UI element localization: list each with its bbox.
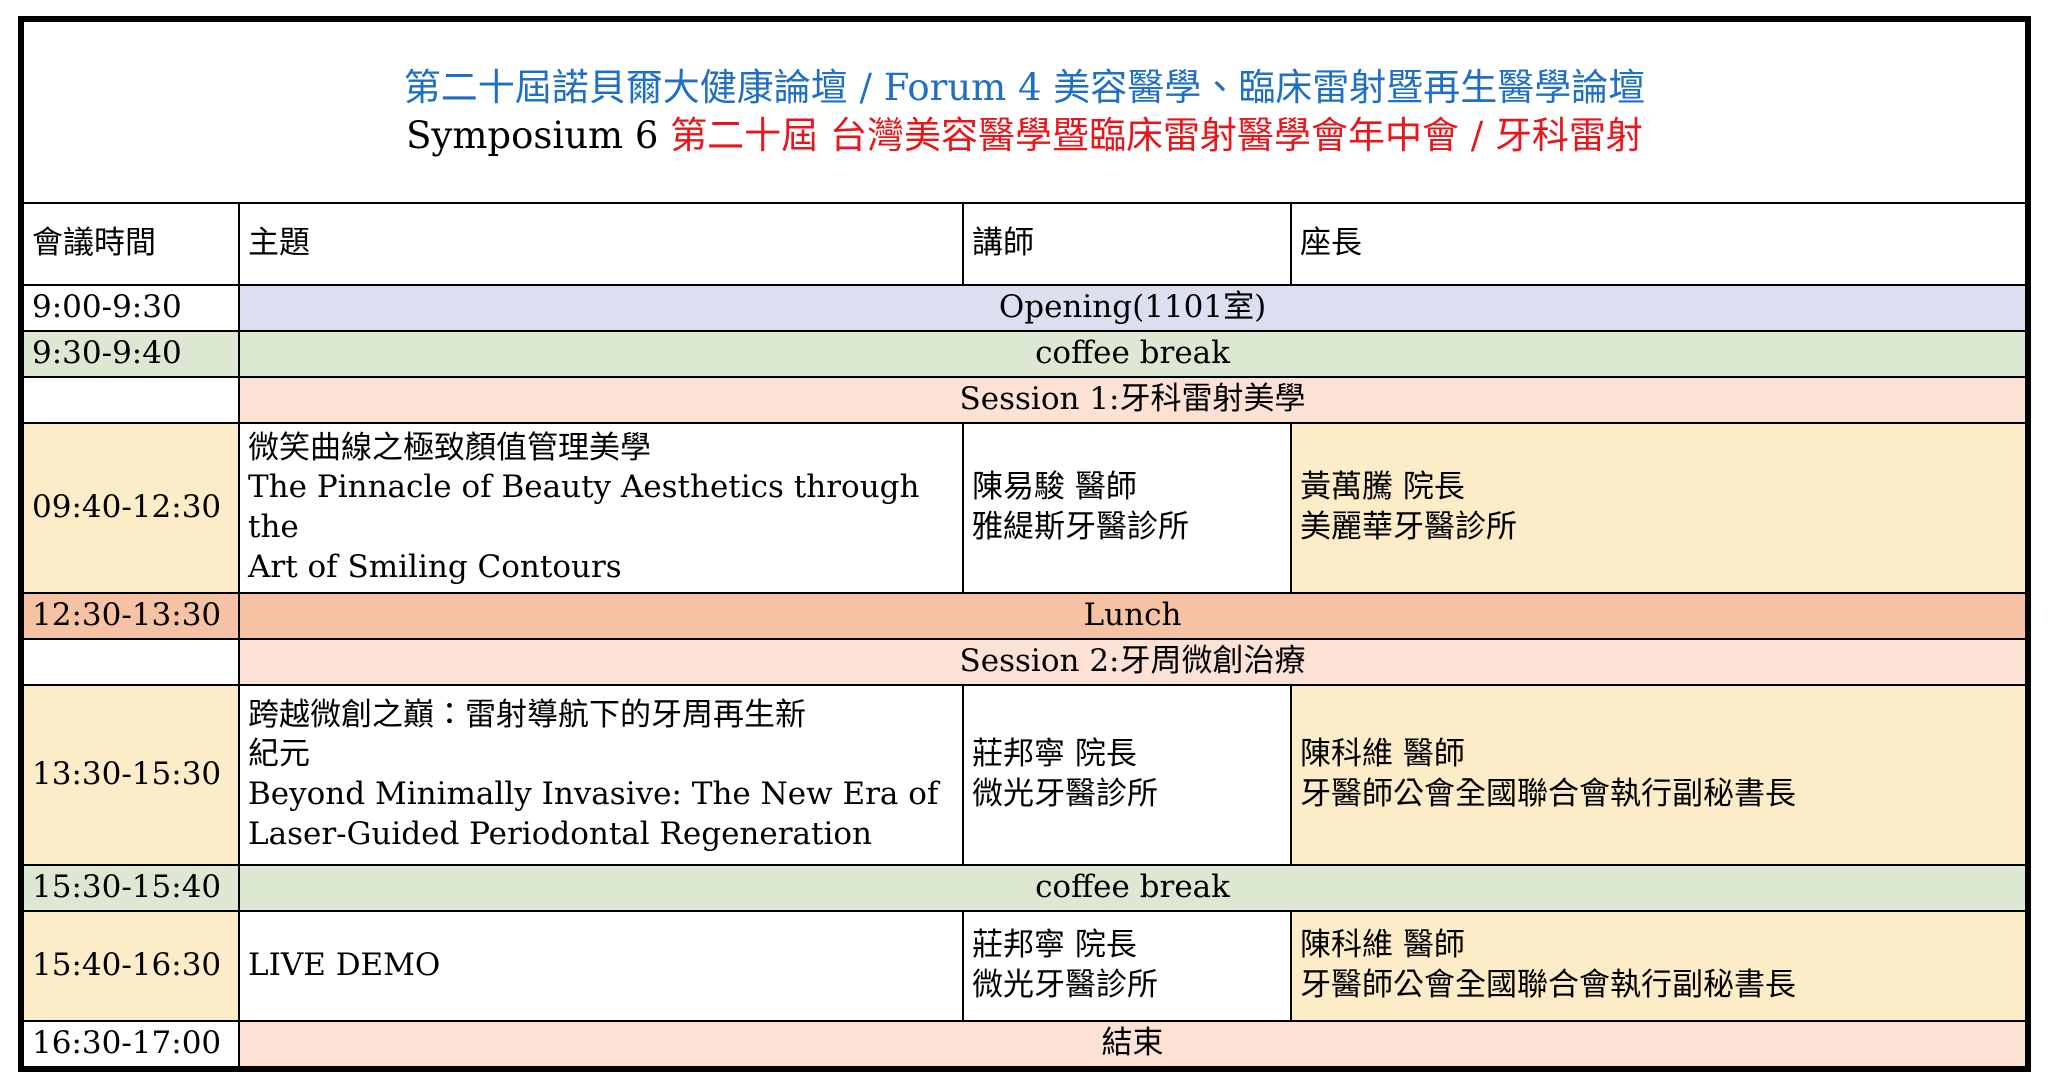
symposium-label: Symposium 6 <box>406 114 670 157</box>
agenda-row: Session 1:牙科雷射美學 <box>23 377 2026 423</box>
agenda-fullwidth-cell: coffee break <box>239 865 2026 911</box>
agenda-speaker-cell: 陳易駿 醫師雅緹斯牙醫診所 <box>963 423 1291 593</box>
agenda-chair-cell: 陳科維 醫師牙醫師公會全國聯合會執行副秘書長 <box>1291 911 2026 1021</box>
agenda-fullwidth-cell: coffee break <box>239 331 2026 377</box>
topic-line: Art of Smiling Contours <box>248 548 954 588</box>
title-banner-row: 第二十屆諾貝爾大健康論壇 / Forum 4 美容醫學、臨床雷射暨再生醫學論壇 … <box>23 21 2026 203</box>
topic-line: The Pinnacle of Beauty Aesthetics throug… <box>248 468 954 547</box>
agenda-chair-cell: 黃萬騰 院長美麗華牙醫診所 <box>1291 423 2026 593</box>
agenda-time-cell: 09:40-12:30 <box>23 423 239 593</box>
topic-line: 紀元 <box>248 735 954 775</box>
topic-line: 微笑曲線之極致顏值管理美學 <box>248 429 954 469</box>
column-header-row: 會議時間 主題 講師 座長 <box>23 203 2026 285</box>
agenda-topic-cell: LIVE DEMO <box>239 911 963 1021</box>
agenda-row: 15:30-15:40coffee break <box>23 865 2026 911</box>
agenda-topic-cell: 微笑曲線之極致顏值管理美學The Pinnacle of Beauty Aest… <box>239 423 963 593</box>
agenda-fullwidth-cell: 結束 <box>239 1021 2026 1067</box>
agenda-row: 12:30-13:30Lunch <box>23 593 2026 639</box>
topic-line: 跨越微創之巔：雷射導航下的牙周再生新 <box>248 696 954 736</box>
agenda-row: 13:30-15:30跨越微創之巔：雷射導航下的牙周再生新紀元Beyond Mi… <box>23 685 2026 865</box>
forum-title-line: 第二十屆諾貝爾大健康論壇 / Forum 4 美容醫學、臨床雷射暨再生醫學論壇 <box>32 64 2017 111</box>
agenda-fullwidth-cell: Session 2:牙周微創治療 <box>239 639 2026 685</box>
chair-line: 牙醫師公會全國聯合會執行副秘書長 <box>1300 966 2017 1006</box>
chair-line: 陳科維 醫師 <box>1300 735 2017 775</box>
agenda-row: 15:40-16:30LIVE DEMO莊邦寧 院長微光牙醫診所陳科維 醫師牙醫… <box>23 911 2026 1021</box>
speaker-line: 莊邦寧 院長 <box>972 926 1282 966</box>
chair-line: 牙醫師公會全國聯合會執行副秘書長 <box>1300 775 2017 815</box>
chair-line: 黃萬騰 院長 <box>1300 468 2017 508</box>
speaker-line: 微光牙醫診所 <box>972 966 1282 1006</box>
agenda-chair-cell: 陳科維 醫師牙醫師公會全國聯合會執行副秘書長 <box>1291 685 2026 865</box>
topic-line: Beyond Minimally Invasive: The New Era o… <box>248 775 954 815</box>
agenda-row: 16:30-17:00結束 <box>23 1021 2026 1067</box>
agenda-row: 09:40-12:30微笑曲線之極致顏值管理美學The Pinnacle of … <box>23 423 2026 593</box>
agenda-time-cell: 15:40-16:30 <box>23 911 239 1021</box>
agenda-time-cell <box>23 639 239 685</box>
topic-line: Laser-Guided Periodontal Regeneration <box>248 815 954 855</box>
agenda-fullwidth-cell: Lunch <box>239 593 2026 639</box>
column-header-time: 會議時間 <box>23 203 239 285</box>
chair-line: 美麗華牙醫診所 <box>1300 508 2017 548</box>
agenda-time-cell: 16:30-17:00 <box>23 1021 239 1067</box>
speaker-line: 雅緹斯牙醫診所 <box>972 508 1282 548</box>
speaker-line: 莊邦寧 院長 <box>972 735 1282 775</box>
column-header-speaker: 講師 <box>963 203 1291 285</box>
agenda-fullwidth-cell: Session 1:牙科雷射美學 <box>239 377 2026 423</box>
agenda-row: Session 2:牙周微創治療 <box>23 639 2026 685</box>
agenda-container: 第二十屆諾貝爾大健康論壇 / Forum 4 美容醫學、臨床雷射暨再生醫學論壇 … <box>22 20 2025 1068</box>
symposium-title-chinese: 第二十屆 台灣美容醫學暨臨床雷射醫學會年中會 / 牙科雷射 <box>670 114 1643 157</box>
speaker-line: 陳易駿 醫師 <box>972 468 1282 508</box>
agenda-topic-cell: 跨越微創之巔：雷射導航下的牙周再生新紀元Beyond Minimally Inv… <box>239 685 963 865</box>
symposium-title-line: Symposium 6 第二十屆 台灣美容醫學暨臨床雷射醫學會年中會 / 牙科雷… <box>32 112 2017 159</box>
agenda-time-cell: 15:30-15:40 <box>23 865 239 911</box>
symposium-agenda-table: 第二十屆諾貝爾大健康論壇 / Forum 4 美容醫學、臨床雷射暨再生醫學論壇 … <box>22 20 2027 1068</box>
agenda-speaker-cell: 莊邦寧 院長微光牙醫診所 <box>963 685 1291 865</box>
symposium-title-banner: 第二十屆諾貝爾大健康論壇 / Forum 4 美容醫學、臨床雷射暨再生醫學論壇 … <box>23 21 2026 203</box>
topic-line: LIVE DEMO <box>248 946 954 986</box>
agenda-row: 9:30-9:40coffee break <box>23 331 2026 377</box>
chair-line: 陳科維 醫師 <box>1300 926 2017 966</box>
agenda-row: 9:00-9:30Opening(1101室) <box>23 285 2026 331</box>
column-header-topic: 主題 <box>239 203 963 285</box>
agenda-time-cell: 9:00-9:30 <box>23 285 239 331</box>
column-header-chair: 座長 <box>1291 203 2026 285</box>
agenda-time-cell: 13:30-15:30 <box>23 685 239 865</box>
speaker-line: 微光牙醫診所 <box>972 775 1282 815</box>
agenda-fullwidth-cell: Opening(1101室) <box>239 285 2026 331</box>
agenda-speaker-cell: 莊邦寧 院長微光牙醫診所 <box>963 911 1291 1021</box>
agenda-time-cell: 9:30-9:40 <box>23 331 239 377</box>
agenda-time-cell: 12:30-13:30 <box>23 593 239 639</box>
agenda-time-cell <box>23 377 239 423</box>
